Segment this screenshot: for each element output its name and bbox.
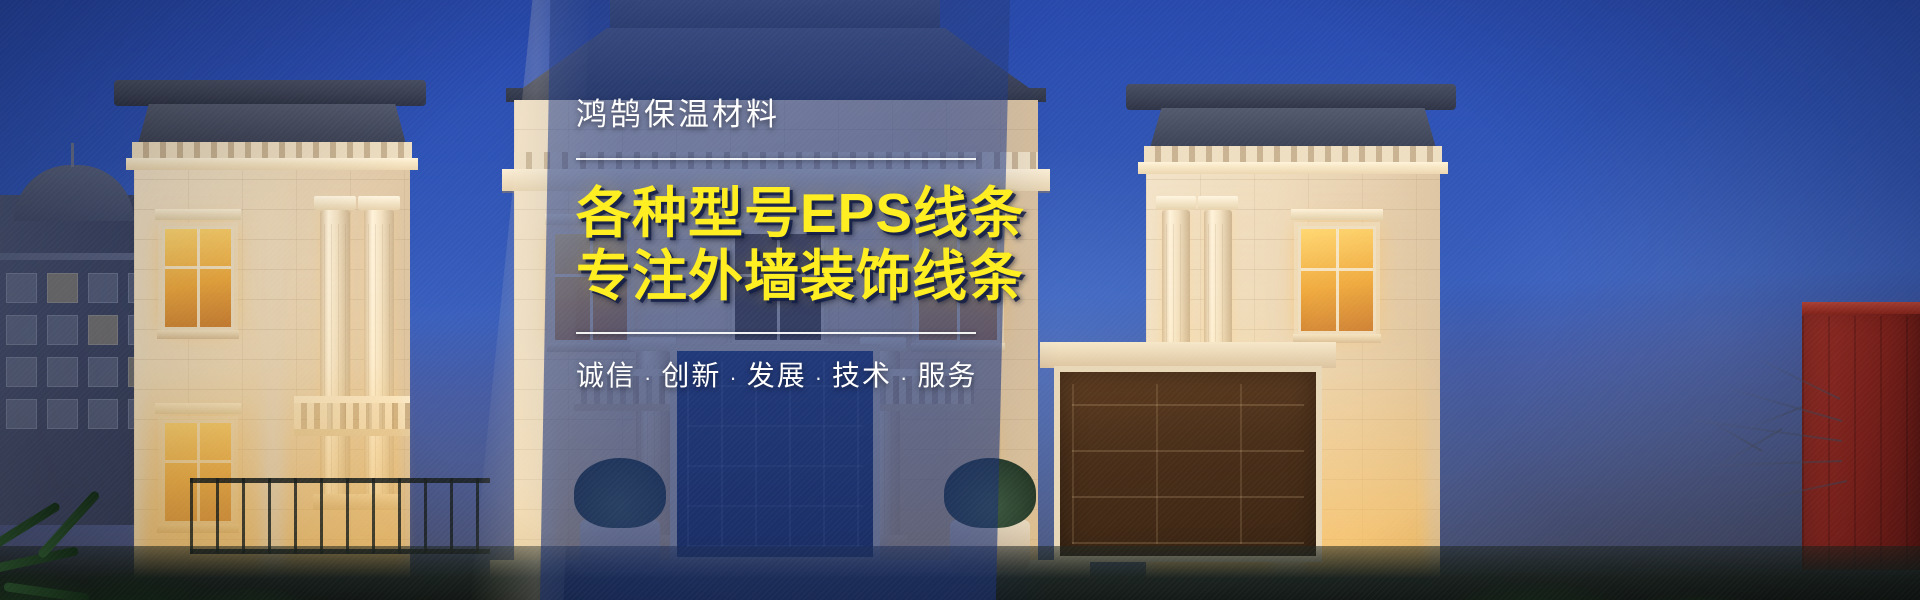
tagline-item-2: 发展 bbox=[747, 360, 807, 391]
divider-top bbox=[576, 158, 976, 160]
window-mullion bbox=[1336, 229, 1339, 331]
window-sill bbox=[157, 330, 239, 339]
tagline-separator: · bbox=[807, 365, 832, 390]
palm-frond bbox=[3, 582, 89, 600]
divider-bottom bbox=[576, 332, 976, 334]
headline-line-2: 专注外墙装饰线条 bbox=[576, 245, 996, 308]
railing-baluster bbox=[450, 478, 453, 554]
background-window bbox=[47, 273, 78, 303]
headline-line-1: 各种型号EPS线条 bbox=[576, 182, 996, 245]
tree-branch bbox=[1751, 406, 1803, 428]
tagline-item-3: 技术 bbox=[832, 360, 892, 391]
window-mullion bbox=[165, 266, 231, 269]
railing-rail bbox=[190, 478, 490, 483]
headline-block: 各种型号EPS线条 专注外墙装饰线条 bbox=[576, 182, 996, 307]
window-mullion bbox=[197, 229, 200, 327]
tagline-separator: · bbox=[892, 365, 917, 390]
tagline-separator: · bbox=[721, 365, 746, 390]
column-fluting bbox=[368, 224, 390, 494]
tagline: 诚信·创新·发展·技术·服务 bbox=[576, 354, 996, 394]
foliage-left bbox=[0, 490, 310, 600]
column-fluting bbox=[324, 224, 346, 494]
window-pediment bbox=[155, 209, 241, 220]
dentil-course bbox=[1144, 146, 1442, 162]
roof-slope bbox=[1150, 108, 1436, 148]
cornice-band bbox=[1138, 162, 1448, 174]
garage-panels bbox=[1072, 384, 1304, 544]
column bbox=[320, 210, 350, 510]
window-pediment bbox=[1291, 209, 1383, 220]
garage-door bbox=[1054, 366, 1322, 562]
banner-copy: 鸿鹄保温材料 各种型号EPS线条 专注外墙装饰线条 诚信·创新·发展·技术·服务 bbox=[576, 96, 996, 394]
tree-branch bbox=[1712, 460, 1842, 467]
dentil-course bbox=[132, 142, 412, 158]
brand-name: 鸿鹄保温材料 bbox=[576, 96, 996, 133]
tree-branch bbox=[1759, 359, 1841, 400]
tagline-item-4: 服务 bbox=[917, 360, 977, 391]
tagline-separator: · bbox=[636, 365, 661, 390]
railing-baluster bbox=[424, 478, 427, 554]
balustrade bbox=[294, 396, 410, 436]
railing-baluster bbox=[398, 478, 401, 554]
lit-window bbox=[1298, 226, 1376, 334]
railing-baluster bbox=[320, 478, 323, 554]
window-mullion bbox=[165, 460, 231, 463]
background-window bbox=[47, 315, 78, 345]
roof-slope bbox=[138, 104, 406, 144]
background-window bbox=[6, 273, 37, 303]
tree-branch bbox=[1749, 480, 1847, 503]
tagline-item-1: 创新 bbox=[661, 360, 721, 391]
roof-cap bbox=[114, 80, 426, 106]
cornice-band bbox=[126, 158, 418, 170]
tagline-item-0: 诚信 bbox=[576, 360, 636, 391]
background-window bbox=[47, 399, 78, 429]
railing-baluster bbox=[346, 478, 349, 554]
promo-banner: 鸿鹄保温材料 各种型号EPS线条 专注外墙装饰线条 诚信·创新·发展·技术·服务 bbox=[0, 0, 1920, 600]
roof-cap bbox=[1126, 84, 1456, 110]
lit-window bbox=[162, 226, 234, 330]
background-window bbox=[47, 357, 78, 387]
window-pediment bbox=[155, 403, 241, 414]
column bbox=[364, 210, 394, 510]
foliage-right bbox=[1450, 506, 1810, 600]
railing-baluster bbox=[372, 478, 375, 554]
background-window bbox=[6, 357, 37, 387]
garage-lintel bbox=[1040, 342, 1336, 368]
window-mullion bbox=[1301, 268, 1373, 271]
background-window bbox=[6, 399, 37, 429]
background-window bbox=[6, 315, 37, 345]
